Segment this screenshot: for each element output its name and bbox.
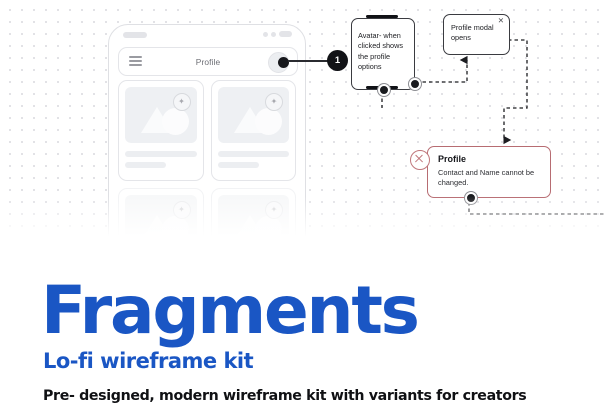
signal-dot-icon xyxy=(263,32,268,37)
avatar-connector-line xyxy=(288,60,330,62)
status-bar-icons xyxy=(263,31,292,37)
connector-dot-right[interactable] xyxy=(409,78,421,90)
card-thumbnail: ✦ xyxy=(125,87,197,143)
note-top-grip-handle[interactable] xyxy=(366,15,398,18)
status-bar-time-pill xyxy=(123,32,147,38)
brand-title: Fragments xyxy=(41,278,418,344)
card-thumbnail: ✦ xyxy=(218,87,290,143)
wifi-dot-icon xyxy=(271,32,276,37)
circle-shape-icon xyxy=(162,108,189,135)
error-circle-x-icon xyxy=(410,150,430,170)
annotation-note-modal-text: Profile modal opens xyxy=(451,23,505,44)
annotation-note-avatar[interactable]: Avatar- when clicked shows the profile o… xyxy=(351,18,415,90)
card-text-line-primary xyxy=(218,151,290,157)
settings-badge-icon[interactable]: ✦ xyxy=(173,93,191,111)
card-text-line-secondary xyxy=(125,162,166,168)
brand-subtitle: Lo-fi wireframe kit xyxy=(43,351,253,372)
settings-badge-icon[interactable]: ✦ xyxy=(265,201,283,219)
connector-dot-profile[interactable] xyxy=(465,192,477,204)
phone-app-bar: Profile xyxy=(118,47,298,76)
profile-card-grid: ✦ ✦ ✦ xyxy=(118,80,296,250)
phone-status-bar xyxy=(109,25,305,45)
annotation-note-profile[interactable]: Profile Contact and Name cannot be chang… xyxy=(427,146,551,198)
circle-shape-icon xyxy=(255,108,282,135)
avatar-toggle-icon[interactable] xyxy=(268,52,289,73)
annotation-number-badge[interactable]: 1 xyxy=(327,50,348,71)
list-item[interactable]: ✦ xyxy=(211,80,297,181)
connector-dot-bottom[interactable] xyxy=(378,84,390,96)
list-item[interactable]: ✦ xyxy=(118,80,204,181)
annotation-note-avatar-text: Avatar- when clicked shows the profile o… xyxy=(358,31,410,73)
phone-mockup: Profile ✦ ✦ xyxy=(108,24,306,252)
card-text-line-secondary xyxy=(218,162,259,168)
annotation-note-profile-body: Contact and Name cannot be changed. xyxy=(438,168,542,188)
card-text-line-primary xyxy=(125,151,197,157)
battery-pill-icon xyxy=(279,31,292,37)
screenshot-stage: Profile ✦ ✦ xyxy=(0,0,604,420)
annotation-note-profile-title: Profile xyxy=(438,154,466,164)
annotation-note-modal[interactable]: ✕ Profile modal opens xyxy=(443,14,510,55)
settings-badge-icon[interactable]: ✦ xyxy=(265,93,283,111)
settings-badge-icon[interactable]: ✦ xyxy=(173,201,191,219)
brand-description: Pre- designed, modern wireframe kit with… xyxy=(43,389,526,403)
